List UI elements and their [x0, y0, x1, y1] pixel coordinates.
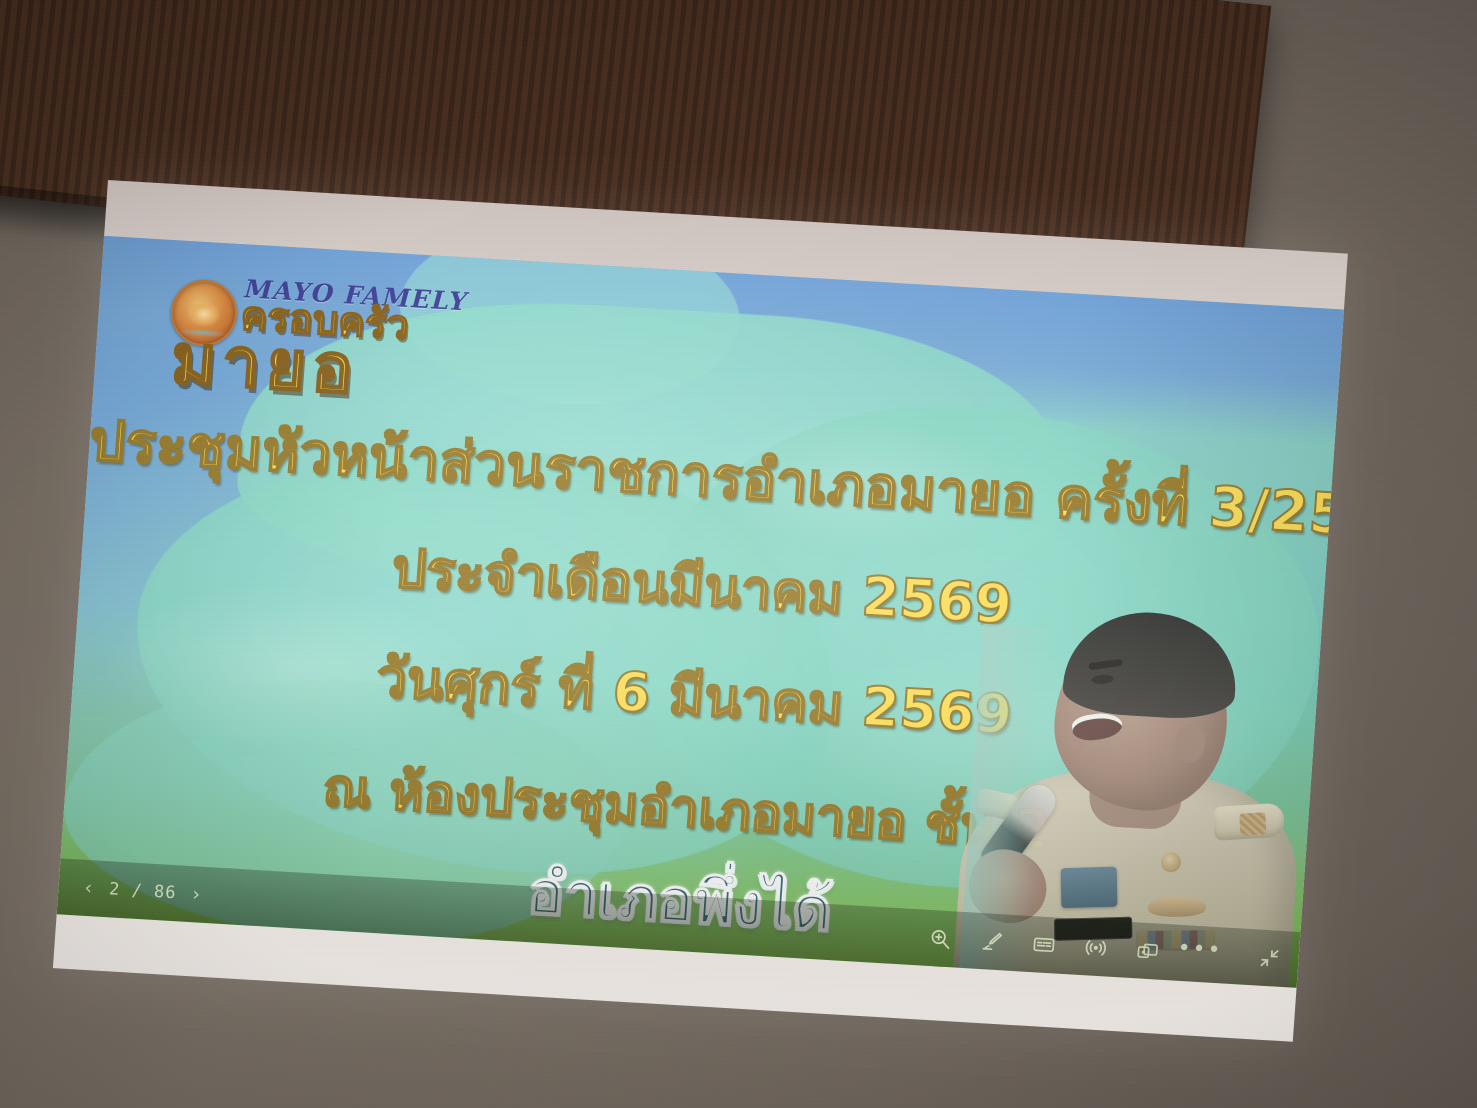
page-navigator: ‹ 2 / 86 ›: [75, 859, 203, 922]
projected-screen: MAYO FAMELY ครอบครัว มายอ ประชุมหัวหน้าส…: [53, 180, 1348, 1042]
laser-pointer-icon[interactable]: [1082, 934, 1110, 961]
zoom-in-icon[interactable]: [926, 925, 954, 952]
id-badge: [1061, 867, 1118, 909]
exit-fullscreen-icon[interactable]: [1256, 944, 1284, 971]
meeting-room-background: MAYO FAMELY ครอบครัว มายอ ประชุมหัวหน้าส…: [0, 0, 1477, 1108]
next-slide-button[interactable]: ›: [192, 885, 202, 904]
more-options-icon[interactable]: •••: [1185, 936, 1213, 971]
mayo-family-logo: MAYO FAMELY ครอบครัว มายอ: [165, 264, 474, 421]
prev-slide-button[interactable]: ‹: [84, 878, 94, 897]
pen-annotate-icon[interactable]: [978, 928, 1006, 955]
rank-insignia: [1239, 812, 1266, 836]
subtitles-icon[interactable]: [1030, 931, 1058, 958]
presenter-view-icon[interactable]: [1134, 937, 1162, 964]
presentation-slide[interactable]: MAYO FAMELY ครอบครัว มายอ ประชุมหัวหน้าส…: [57, 236, 1344, 988]
page-indicator: 2 / 86: [108, 879, 177, 903]
logo-thai-line2: มายอ: [169, 326, 361, 405]
wing-badge: [1148, 896, 1206, 917]
